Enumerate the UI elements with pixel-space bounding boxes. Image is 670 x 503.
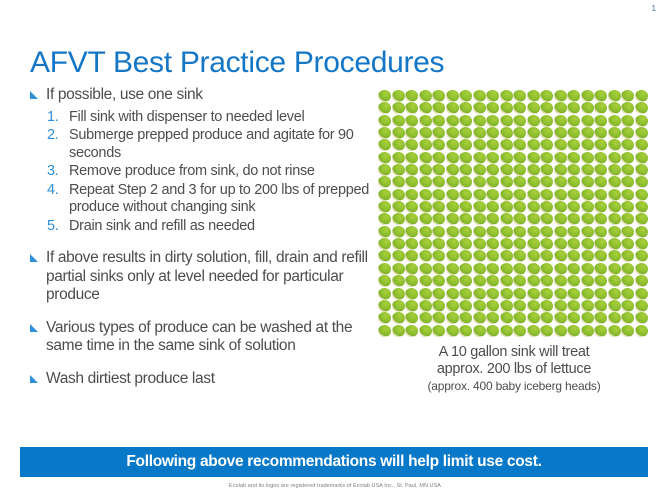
lettuce-head-icon	[554, 164, 567, 176]
lettuce-head-icon	[419, 102, 432, 114]
lettuce-head-icon	[486, 164, 499, 176]
lettuce-head-icon	[567, 238, 580, 250]
lettuce-head-icon	[473, 102, 486, 114]
sub-item-3-number: 3.	[47, 163, 59, 181]
lettuce-head-icon	[419, 176, 432, 188]
lettuce-head-icon	[581, 201, 594, 213]
lettuce-head-icon	[554, 213, 567, 225]
lettuce-head-icon	[432, 312, 445, 324]
lettuce-head-icon	[392, 213, 405, 225]
lettuce-head-icon	[621, 300, 634, 312]
lettuce-head-icon	[540, 189, 553, 201]
recommendation-banner: Following above recommendations will hel…	[20, 447, 648, 477]
lettuce-head-icon	[621, 201, 634, 213]
lettuce-head-icon	[378, 115, 391, 127]
lettuce-head-icon	[594, 325, 607, 337]
lettuce-head-icon	[513, 238, 526, 250]
lettuce-head-icon	[459, 325, 472, 337]
sub-item-3: 3. Remove produce from sink, do not rins…	[24, 163, 374, 181]
lettuce-head-icon	[554, 152, 567, 164]
lettuce-head-icon	[635, 250, 648, 262]
lettuce-head-icon	[405, 312, 418, 324]
lettuce-head-icon	[378, 312, 391, 324]
lettuce-head-icon	[405, 176, 418, 188]
lettuce-head-icon	[500, 127, 513, 139]
lettuce-head-icon	[554, 102, 567, 114]
lettuce-head-icon	[432, 300, 445, 312]
lettuce-head-icon	[527, 115, 540, 127]
lettuce-head-icon	[554, 288, 567, 300]
lettuce-head-icon	[554, 325, 567, 337]
lettuce-head-icon	[500, 312, 513, 324]
lettuce-head-icon	[392, 152, 405, 164]
sub-item-4: 4. Repeat Step 2 and 3 for up to 200 lbs…	[24, 182, 374, 217]
lettuce-head-icon	[594, 139, 607, 151]
lettuce-head-icon	[594, 300, 607, 312]
lettuce-head-icon	[446, 176, 459, 188]
lettuce-head-icon	[594, 238, 607, 250]
lettuce-head-icon	[419, 250, 432, 262]
lettuce-head-icon	[459, 213, 472, 225]
lettuce-head-icon	[513, 90, 526, 102]
lettuce-head-icon	[554, 201, 567, 213]
lettuce-head-icon	[378, 90, 391, 102]
lettuce-head-icon	[635, 325, 648, 337]
lettuce-head-icon	[567, 226, 580, 238]
lettuce-head-icon	[527, 189, 540, 201]
bullet-item-2: If above results in dirty solution, fill…	[24, 249, 374, 305]
lettuce-head-icon	[567, 152, 580, 164]
lettuce-head-icon	[459, 164, 472, 176]
lettuce-head-icon	[527, 152, 540, 164]
lettuce-head-icon	[513, 325, 526, 337]
lettuce-head-icon	[621, 152, 634, 164]
lettuce-head-icon	[419, 115, 432, 127]
lettuce-head-icon	[635, 312, 648, 324]
lettuce-head-icon	[486, 102, 499, 114]
lettuce-head-icon	[486, 288, 499, 300]
lettuce-head-icon	[594, 115, 607, 127]
lettuce-head-icon	[608, 127, 621, 139]
lettuce-head-icon	[459, 275, 472, 287]
lettuce-head-icon	[432, 238, 445, 250]
caption-line-2: approx. 200 lbs of lettuce	[378, 361, 650, 378]
lettuce-head-icon	[581, 164, 594, 176]
lettuce-head-icon	[527, 176, 540, 188]
lettuce-head-icon	[527, 127, 540, 139]
lettuce-head-icon	[513, 102, 526, 114]
lettuce-head-icon	[594, 226, 607, 238]
lettuce-head-icon	[608, 189, 621, 201]
lettuce-head-icon	[500, 115, 513, 127]
lettuce-head-icon	[378, 288, 391, 300]
lettuce-head-icon	[405, 189, 418, 201]
lettuce-head-icon	[581, 238, 594, 250]
lettuce-head-icon	[527, 325, 540, 337]
lettuce-head-icon	[419, 127, 432, 139]
lettuce-head-icon	[486, 127, 499, 139]
lettuce-head-icon	[473, 263, 486, 275]
lettuce-head-icon	[378, 300, 391, 312]
lettuce-head-icon	[405, 238, 418, 250]
lettuce-head-icon	[432, 127, 445, 139]
lettuce-head-icon	[432, 176, 445, 188]
sub-item-4-number: 4.	[47, 182, 59, 200]
lettuce-head-icon	[581, 115, 594, 127]
lettuce-head-icon	[608, 152, 621, 164]
lettuce-head-icon	[635, 300, 648, 312]
lettuce-head-icon	[405, 139, 418, 151]
lettuce-head-icon	[608, 238, 621, 250]
lettuce-head-icon	[432, 189, 445, 201]
lettuce-head-icon	[567, 90, 580, 102]
page-title: AFVT Best Practice Procedures	[30, 46, 444, 80]
lettuce-head-icon	[567, 102, 580, 114]
lettuce-head-icon	[392, 164, 405, 176]
lettuce-head-icon	[635, 139, 648, 151]
lettuce-head-icon	[446, 288, 459, 300]
lettuce-head-icon	[392, 189, 405, 201]
lettuce-head-icon	[405, 288, 418, 300]
lettuce-head-icon	[608, 115, 621, 127]
lettuce-head-icon	[419, 238, 432, 250]
lettuce-head-icon	[581, 263, 594, 275]
lettuce-head-icon	[527, 90, 540, 102]
lettuce-head-icon	[594, 90, 607, 102]
lettuce-head-icon	[608, 201, 621, 213]
lettuce-head-icon	[446, 263, 459, 275]
lettuce-head-icon	[567, 115, 580, 127]
lettuce-head-icon	[378, 102, 391, 114]
lettuce-head-icon	[392, 176, 405, 188]
lettuce-head-icon	[554, 115, 567, 127]
image-caption: A 10 gallon sink will treat approx. 200 …	[378, 344, 650, 394]
lettuce-head-icon	[473, 176, 486, 188]
lettuce-head-icon	[581, 226, 594, 238]
lettuce-head-icon	[405, 90, 418, 102]
lettuce-head-icon	[594, 164, 607, 176]
lettuce-head-icon	[527, 250, 540, 262]
lettuce-head-icon	[581, 213, 594, 225]
lettuce-head-icon	[527, 139, 540, 151]
lettuce-head-icon	[513, 288, 526, 300]
lettuce-head-icon	[486, 90, 499, 102]
bullet-list: If possible, use one sink 1. Fill sink w…	[24, 86, 374, 392]
lettuce-head-icon	[621, 312, 634, 324]
lettuce-head-icon	[540, 325, 553, 337]
lettuce-head-icon	[554, 176, 567, 188]
lettuce-head-icon	[567, 127, 580, 139]
lettuce-head-icon	[459, 102, 472, 114]
lettuce-head-icon	[608, 300, 621, 312]
lettuce-head-icon	[567, 213, 580, 225]
lettuce-head-icon	[432, 164, 445, 176]
lettuce-head-icon	[432, 263, 445, 275]
lettuce-head-icon	[392, 263, 405, 275]
lettuce-head-icon	[608, 325, 621, 337]
lettuce-head-icon	[446, 90, 459, 102]
lettuce-head-icon	[567, 139, 580, 151]
lettuce-head-icon	[635, 213, 648, 225]
lettuce-head-icon	[378, 226, 391, 238]
lettuce-head-icon	[500, 201, 513, 213]
lettuce-head-icon	[446, 102, 459, 114]
lettuce-head-icon	[500, 176, 513, 188]
lettuce-head-icon	[621, 127, 634, 139]
lettuce-head-icon	[419, 288, 432, 300]
lettuce-head-icon	[432, 250, 445, 262]
lettuce-head-icon	[432, 152, 445, 164]
bullet-item-3: Various types of produce can be washed a…	[24, 319, 374, 356]
lettuce-head-icon	[594, 263, 607, 275]
slide-canvas: 1 AFVT Best Practice Procedures If possi…	[0, 0, 670, 503]
lettuce-head-icon	[486, 300, 499, 312]
lettuce-head-icon	[581, 152, 594, 164]
lettuce-head-icon	[540, 312, 553, 324]
lettuce-head-icon	[378, 189, 391, 201]
lettuce-head-icon	[486, 312, 499, 324]
lettuce-head-icon	[486, 176, 499, 188]
lettuce-head-icon	[635, 226, 648, 238]
lettuce-head-icon	[513, 213, 526, 225]
lettuce-head-icon	[419, 189, 432, 201]
lettuce-head-icon	[540, 213, 553, 225]
lettuce-head-icon	[459, 90, 472, 102]
lettuce-head-icon	[486, 275, 499, 287]
lettuce-head-icon	[486, 139, 499, 151]
lettuce-head-icon	[513, 201, 526, 213]
lettuce-head-icon	[567, 189, 580, 201]
bullet-item-4-label: Wash dirtiest produce last	[46, 370, 215, 387]
lettuce-head-icon	[405, 226, 418, 238]
lettuce-head-icon	[581, 176, 594, 188]
lettuce-head-icon	[500, 226, 513, 238]
lettuce-head-icon	[594, 201, 607, 213]
lettuce-head-icon	[635, 201, 648, 213]
lettuce-head-icon	[621, 263, 634, 275]
triangle-bullet-icon	[30, 91, 38, 99]
lettuce-head-icon	[392, 127, 405, 139]
lettuce-head-icon	[392, 102, 405, 114]
lettuce-head-icon	[567, 300, 580, 312]
lettuce-head-icon	[621, 164, 634, 176]
lettuce-head-icon	[378, 213, 391, 225]
lettuce-head-icon	[581, 275, 594, 287]
lettuce-head-icon	[554, 275, 567, 287]
lettuce-head-icon	[554, 189, 567, 201]
lettuce-head-icon	[540, 263, 553, 275]
lettuce-head-icon	[432, 275, 445, 287]
lettuce-heads-image	[378, 90, 648, 337]
lettuce-head-icon	[621, 90, 634, 102]
lettuce-head-icon	[446, 238, 459, 250]
lettuce-head-icon	[621, 213, 634, 225]
lettuce-head-icon	[500, 152, 513, 164]
lettuce-head-icon	[540, 102, 553, 114]
lettuce-head-icon	[405, 127, 418, 139]
lettuce-head-icon	[419, 164, 432, 176]
lettuce-head-icon	[419, 312, 432, 324]
lettuce-head-icon	[635, 238, 648, 250]
lettuce-head-icon	[608, 250, 621, 262]
lettuce-head-icon	[473, 275, 486, 287]
lettuce-head-icon	[459, 300, 472, 312]
sub-item-5: 5. Drain sink and refill as needed	[24, 218, 374, 236]
lettuce-head-icon	[419, 139, 432, 151]
lettuce-head-icon	[405, 300, 418, 312]
lettuce-head-icon	[581, 102, 594, 114]
lettuce-head-icon	[473, 300, 486, 312]
lettuce-head-icon	[378, 201, 391, 213]
triangle-bullet-icon	[30, 324, 38, 332]
lettuce-head-icon	[405, 201, 418, 213]
lettuce-head-icon	[554, 263, 567, 275]
lettuce-head-icon	[446, 189, 459, 201]
lettuce-head-icon	[608, 275, 621, 287]
lettuce-head-icon	[513, 275, 526, 287]
lettuce-head-icon	[446, 300, 459, 312]
lettuce-head-icon	[581, 189, 594, 201]
lettuce-head-icon	[486, 263, 499, 275]
lettuce-head-icon	[540, 127, 553, 139]
lettuce-head-icon	[419, 213, 432, 225]
lettuce-head-icon	[378, 164, 391, 176]
lettuce-head-icon	[554, 139, 567, 151]
lettuce-head-icon	[459, 238, 472, 250]
lettuce-head-icon	[540, 115, 553, 127]
lettuce-head-icon	[513, 263, 526, 275]
lettuce-head-icon	[446, 152, 459, 164]
lettuce-head-icon	[594, 312, 607, 324]
sub-item-2-label: Submerge prepped produce and agitate for…	[69, 127, 354, 161]
lettuce-head-icon	[432, 213, 445, 225]
lettuce-head-icon	[621, 115, 634, 127]
lettuce-head-icon	[594, 288, 607, 300]
sub-item-2: 2. Submerge prepped produce and agitate …	[24, 127, 374, 162]
lettuce-head-icon	[432, 288, 445, 300]
lettuce-head-icon	[459, 115, 472, 127]
lettuce-head-icon	[392, 325, 405, 337]
lettuce-head-icon	[567, 263, 580, 275]
lettuce-head-icon	[500, 288, 513, 300]
lettuce-head-icon	[513, 115, 526, 127]
lettuce-head-icon	[554, 312, 567, 324]
lettuce-head-icon	[635, 288, 648, 300]
lettuce-head-icon	[527, 263, 540, 275]
lettuce-head-icon	[621, 189, 634, 201]
lettuce-head-icon	[500, 325, 513, 337]
lettuce-head-icon	[459, 152, 472, 164]
lettuce-head-icon	[581, 288, 594, 300]
lettuce-head-icon	[513, 164, 526, 176]
lettuce-head-icon	[486, 226, 499, 238]
lettuce-head-icon	[567, 275, 580, 287]
lettuce-head-icon	[594, 127, 607, 139]
lettuce-head-icon	[594, 152, 607, 164]
lettuce-head-icon	[432, 102, 445, 114]
lettuce-head-icon	[527, 164, 540, 176]
lettuce-head-icon	[500, 213, 513, 225]
lettuce-head-icon	[540, 176, 553, 188]
lettuce-head-icon	[500, 164, 513, 176]
lettuce-head-icon	[527, 226, 540, 238]
lettuce-head-icon	[608, 90, 621, 102]
lettuce-head-icon	[635, 275, 648, 287]
sub-item-1-number: 1.	[47, 109, 59, 127]
lettuce-head-icon	[392, 238, 405, 250]
lettuce-head-icon	[500, 263, 513, 275]
lettuce-head-icon	[446, 226, 459, 238]
lettuce-head-icon	[608, 139, 621, 151]
sub-item-3-label: Remove produce from sink, do not rinse	[69, 163, 315, 179]
lettuce-head-icon	[540, 164, 553, 176]
lettuce-head-icon	[486, 213, 499, 225]
trademark-footer: Ecolab and its logos are registered trad…	[0, 483, 670, 489]
lettuce-head-icon	[459, 250, 472, 262]
lettuce-head-icon	[473, 201, 486, 213]
lettuce-head-icon	[567, 288, 580, 300]
lettuce-head-icon	[608, 288, 621, 300]
lettuce-head-icon	[459, 139, 472, 151]
lettuce-head-icon	[500, 275, 513, 287]
lettuce-head-icon	[540, 300, 553, 312]
lettuce-head-icon	[581, 139, 594, 151]
lettuce-head-icon	[446, 115, 459, 127]
lettuce-head-icon	[567, 201, 580, 213]
lettuce-head-icon	[459, 127, 472, 139]
lettuce-head-icon	[567, 176, 580, 188]
lettuce-head-icon	[500, 300, 513, 312]
lettuce-head-icon	[608, 312, 621, 324]
lettuce-head-icon	[459, 189, 472, 201]
caption-line-3: (approx. 400 baby iceberg heads)	[378, 378, 650, 394]
lettuce-head-icon	[392, 139, 405, 151]
lettuce-head-icon	[419, 201, 432, 213]
lettuce-head-icon	[432, 226, 445, 238]
lettuce-head-icon	[513, 139, 526, 151]
lettuce-head-icon	[432, 325, 445, 337]
lettuce-head-icon	[513, 127, 526, 139]
lettuce-head-icon	[392, 275, 405, 287]
lettuce-head-icon	[473, 115, 486, 127]
lettuce-head-icon	[581, 250, 594, 262]
lettuce-head-icon	[432, 201, 445, 213]
lettuce-head-icon	[621, 288, 634, 300]
lettuce-head-icon	[527, 213, 540, 225]
sub-item-2-number: 2.	[47, 127, 59, 145]
lettuce-head-icon	[473, 152, 486, 164]
lettuce-head-icon	[608, 263, 621, 275]
caption-line-1: A 10 gallon sink will treat	[378, 344, 650, 361]
lettuce-head-icon	[419, 90, 432, 102]
lettuce-head-icon	[581, 90, 594, 102]
lettuce-head-icon	[419, 152, 432, 164]
lettuce-head-icon	[405, 275, 418, 287]
lettuce-head-icon	[513, 152, 526, 164]
lettuce-head-icon	[581, 312, 594, 324]
lettuce-head-icon	[378, 325, 391, 337]
numbered-sub-list: 1. Fill sink with dispenser to needed le…	[24, 109, 374, 236]
sub-item-5-number: 5.	[47, 218, 59, 236]
lettuce-head-icon	[621, 250, 634, 262]
page-number: 1	[652, 4, 656, 13]
lettuce-head-icon	[635, 189, 648, 201]
lettuce-head-icon	[540, 226, 553, 238]
lettuce-head-icon	[446, 201, 459, 213]
lettuce-head-icon	[594, 250, 607, 262]
lettuce-head-icon	[513, 300, 526, 312]
lettuce-head-icon	[459, 263, 472, 275]
